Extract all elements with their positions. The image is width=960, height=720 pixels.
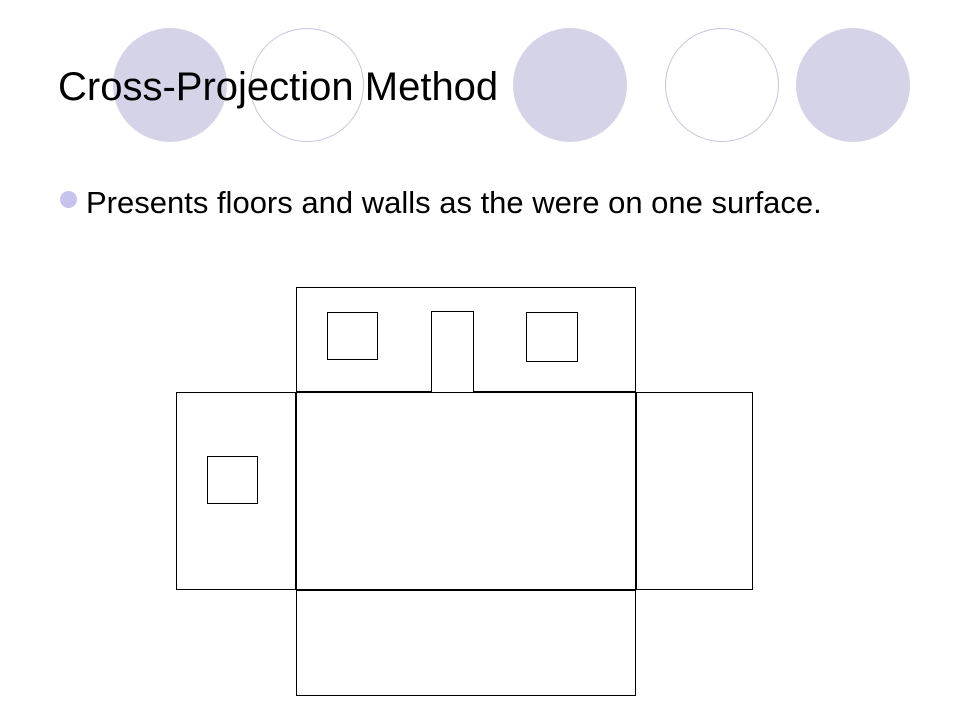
door-top-center <box>431 311 474 392</box>
window-top-right <box>526 312 578 362</box>
bottom-wall-panel <box>296 590 636 696</box>
window-top-left <box>327 312 378 360</box>
floor-panel <box>296 392 636 590</box>
slide-canvas: Cross-Projection Method Presents floors … <box>0 0 960 720</box>
right-wall-panel <box>636 392 753 590</box>
cross-projection-diagram <box>0 0 960 720</box>
window-left-wall <box>207 456 258 504</box>
